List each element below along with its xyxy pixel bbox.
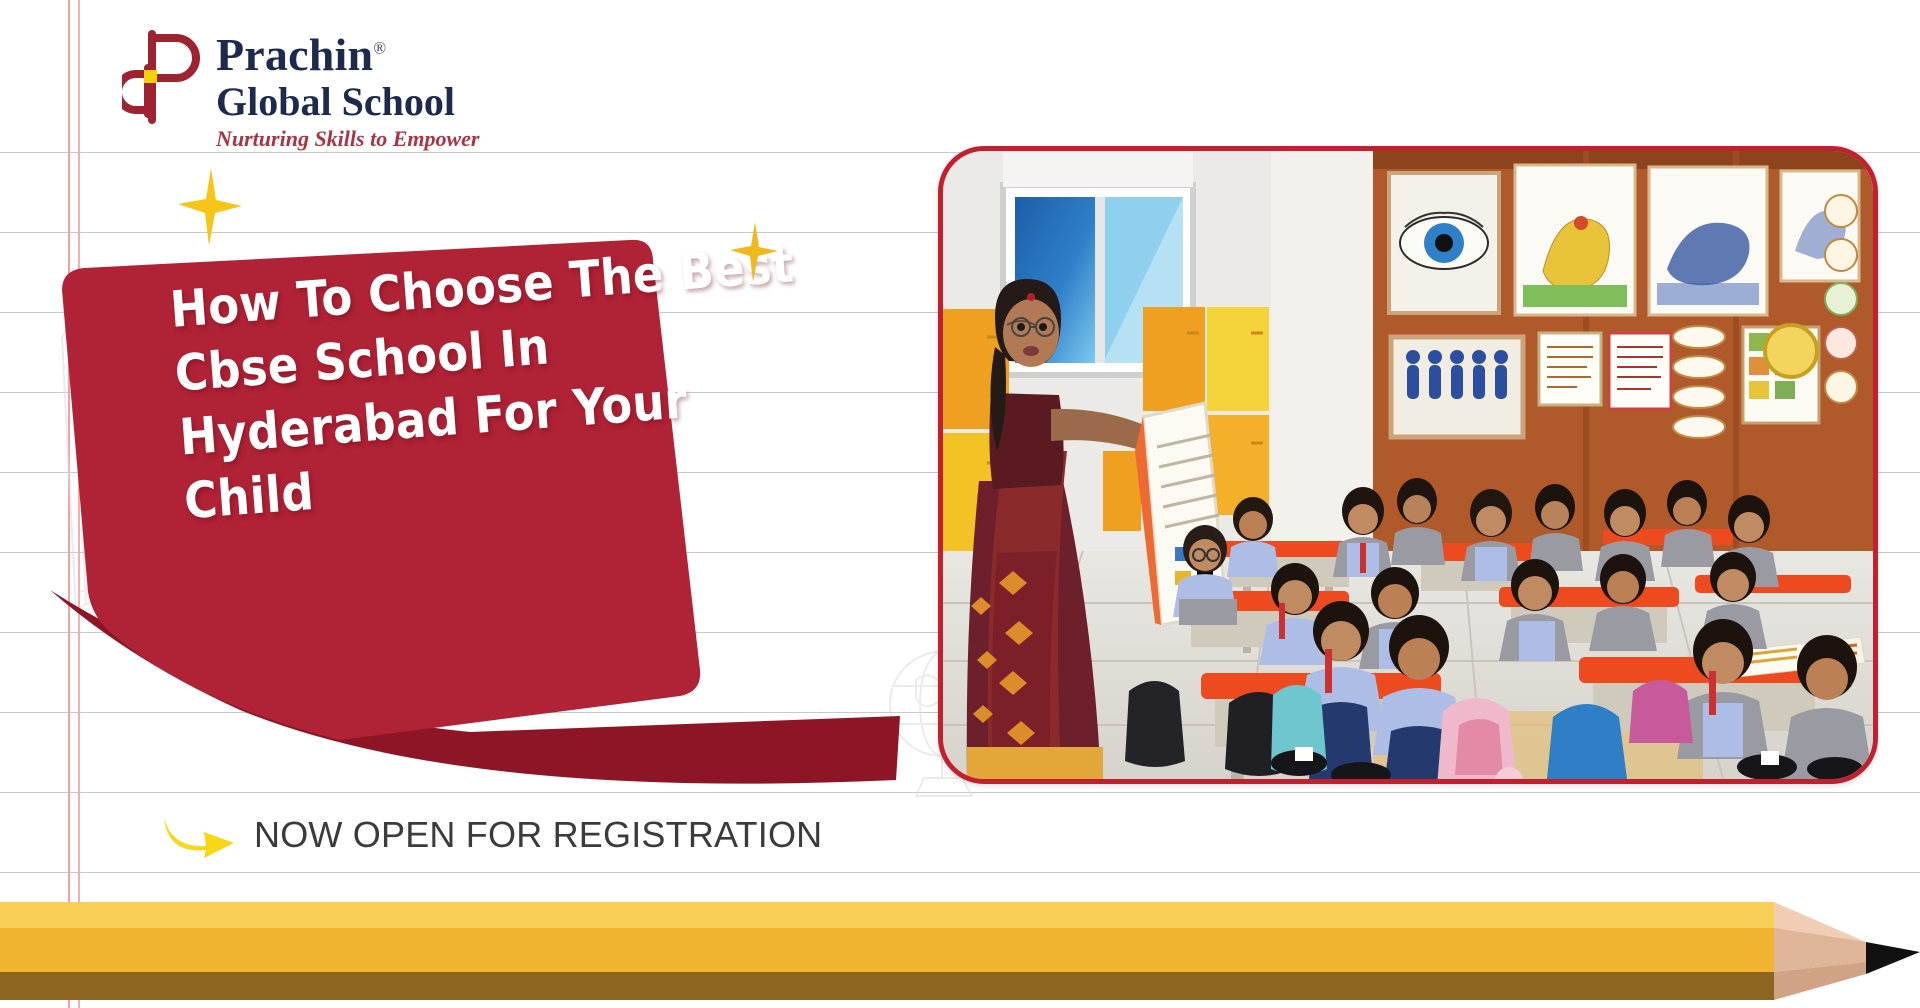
brand-logo[interactable]: Prachin® Global School Nurturing Skills …: [122, 28, 479, 150]
brand-tagline: Nurturing Skills to Empower: [216, 128, 479, 150]
poster-canvas: Prachin® Global School Nurturing Skills …: [0, 0, 1920, 1008]
paper-rule-line: [0, 872, 1920, 873]
banner-title-text: How To Choose The Best Cbse School In Hy…: [168, 231, 825, 533]
registration-callout: NOW OPEN FOR REGISTRATION: [162, 812, 822, 858]
brand-wordmark: Prachin® Global School Nurturing Skills …: [216, 28, 479, 150]
registration-text: NOW OPEN FOR REGISTRATION: [254, 814, 822, 856]
title-banner: How To Choose The Best Cbse School In Hy…: [40, 240, 960, 800]
classroom-scene-illustration: [943, 151, 1873, 779]
brand-name-line1: Prachin®: [216, 32, 479, 78]
registered-mark: ®: [373, 39, 386, 58]
curved-arrow-icon: [162, 812, 236, 858]
classroom-photo: [938, 146, 1878, 784]
prachin-monogram-icon: [122, 28, 200, 124]
sparkle-star-icon: [178, 168, 242, 246]
brand-name-line2: Global School: [216, 82, 479, 122]
pencil-icon: [0, 896, 1920, 1008]
